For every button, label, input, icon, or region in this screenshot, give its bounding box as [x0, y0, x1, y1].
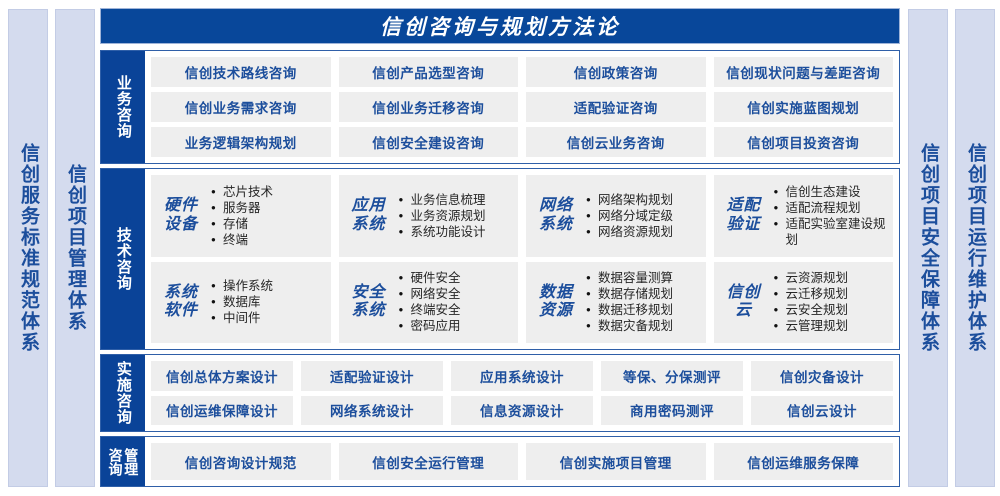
card-item: 终端 [211, 232, 325, 248]
band-business-consulting-label-text: 业务咨询 [115, 75, 131, 139]
list-item[interactable]: 信创云业务咨询 [526, 127, 706, 157]
card-item: 中间件 [211, 310, 325, 326]
band-implementation-consulting-label-text: 实施咨询 [115, 361, 131, 425]
pillar-left-project-management: 信创项目管理体系 [55, 9, 95, 487]
card-title: 系统 软件 [155, 284, 207, 321]
card-item: 系统功能设计 [399, 224, 513, 240]
card-title: 网络 系统 [530, 197, 582, 234]
pillar-left-service-standard-label: 信创服务标准规范体系 [18, 143, 38, 353]
list-item[interactable]: 等保、分保测评 [601, 361, 743, 391]
card-title-line: 系统 [343, 302, 395, 320]
band-technical-consulting-label-text: 技术咨询 [115, 227, 131, 291]
card-title: 数据 资源 [530, 284, 582, 321]
card-title-line: 验证 [718, 216, 770, 234]
pillar-left-project-management-label: 信创项目管理体系 [65, 164, 85, 332]
card-item: 云迁移规划 [774, 286, 888, 302]
card-items: 业务信息梳理 业务资源规划 系统功能设计 [399, 192, 513, 240]
card-item: 数据存储规划 [586, 286, 700, 302]
diagram-root: 信创服务标准规范体系 信创项目管理体系 信创项目安全保障体系 信创项目运行维护体… [0, 0, 1000, 496]
card-title: 安全 系统 [343, 284, 395, 321]
chip-row: 业务逻辑架构规划 信创安全建设咨询 信创云业务咨询 信创项目投资咨询 [151, 127, 893, 157]
card-system-software[interactable]: 系统 软件 操作系统 数据库 中间件 [151, 262, 331, 344]
chip-row: 信创技术路线咨询 信创产品选型咨询 信创政策咨询 信创现状问题与差距咨询 [151, 57, 893, 87]
list-item[interactable]: 网络系统设计 [301, 396, 443, 426]
card-row: 系统 软件 操作系统 数据库 中间件 安全 系统 硬件安全 [151, 262, 893, 344]
card-item: 数据迁移规划 [586, 302, 700, 318]
band-business-consulting-body: 信创技术路线咨询 信创产品选型咨询 信创政策咨询 信创现状问题与差距咨询 信创业… [145, 51, 899, 163]
band-implementation-consulting: 实施咨询 信创总体方案设计 适配验证设计 应用系统设计 等保、分保测评 信创灾备… [100, 354, 900, 432]
list-item[interactable]: 信创灾备设计 [751, 361, 893, 391]
card-network-system[interactable]: 网络 系统 网络架构规划 网络分域定级 网络资源规划 [526, 175, 706, 257]
card-title: 硬件 设备 [155, 197, 207, 234]
card-title-line: 应用 [343, 197, 395, 215]
card-item: 终端安全 [399, 302, 513, 318]
card-application-system[interactable]: 应用 系统 业务信息梳理 业务资源规划 系统功能设计 [339, 175, 519, 257]
card-item: 存储 [211, 216, 325, 232]
card-item: 云管理规划 [774, 318, 888, 334]
card-item: 操作系统 [211, 278, 325, 294]
list-item[interactable]: 信创业务需求咨询 [151, 92, 331, 122]
card-title-line: 资源 [530, 302, 582, 320]
card-adaptation-verification[interactable]: 适配 验证 信创生态建设 适配流程规划 适配实验室建设规划 [714, 175, 894, 257]
card-item: 数据库 [211, 294, 325, 310]
card-item: 云安全规划 [774, 302, 888, 318]
card-items: 操作系统 数据库 中间件 [211, 278, 325, 326]
card-title-line: 软件 [155, 302, 207, 320]
pillar-right-operations-maintenance-label: 信创项目运行维护体系 [965, 143, 985, 353]
card-item: 网络分域定级 [586, 208, 700, 224]
page-title: 信创咨询与规划方法论 [380, 11, 620, 41]
chip-row: 信创总体方案设计 适配验证设计 应用系统设计 等保、分保测评 信创灾备设计 [151, 361, 893, 391]
list-item[interactable]: 商用密码测评 [601, 396, 743, 426]
band-technical-consulting-label: 技术咨询 [101, 169, 145, 349]
list-item[interactable]: 信创产品选型咨询 [339, 57, 519, 87]
card-items: 硬件安全 网络安全 终端安全 密码应用 [399, 270, 513, 334]
card-item: 芯片技术 [211, 184, 325, 200]
card-title-line: 系统 [530, 216, 582, 234]
list-item[interactable]: 信创安全运行管理 [339, 443, 519, 480]
card-title-line: 云 [718, 302, 770, 320]
pillar-left-service-standard: 信创服务标准规范体系 [8, 9, 48, 487]
list-item[interactable]: 信创现状问题与差距咨询 [714, 57, 894, 87]
card-row: 硬件 设备 芯片技术 服务器 存储 终端 应用 系统 [151, 175, 893, 257]
card-title: 信创 云 [718, 284, 770, 321]
band-consulting-management-label-col1: 咨询 [108, 448, 123, 476]
card-item: 云资源规划 [774, 270, 888, 286]
list-item[interactable]: 信息资源设计 [451, 396, 593, 426]
list-item[interactable]: 适配验证设计 [301, 361, 443, 391]
list-item[interactable]: 信创咨询设计规范 [151, 443, 331, 480]
chip-row: 信创运维保障设计 网络系统设计 信息资源设计 商用密码测评 信创云设计 [151, 396, 893, 426]
card-title: 应用 系统 [343, 197, 395, 234]
card-items: 信创生态建设 适配流程规划 适配实验室建设规划 [774, 184, 888, 248]
list-item[interactable]: 应用系统设计 [451, 361, 593, 391]
card-data-resource[interactable]: 数据 资源 数据容量测算 数据存储规划 数据迁移规划 数据灾备规划 [526, 262, 706, 344]
band-consulting-management: 管理 咨询 信创咨询设计规范 信创安全运行管理 信创实施项目管理 信创运维服务保… [100, 436, 900, 487]
card-title-line: 系统 [343, 216, 395, 234]
list-item[interactable]: 信创实施项目管理 [526, 443, 706, 480]
band-business-consulting-label: 业务咨询 [101, 51, 145, 163]
chip-row: 信创业务需求咨询 信创业务迁移咨询 适配验证咨询 信创实施蓝图规划 [151, 92, 893, 122]
card-title-line: 系统 [155, 284, 207, 302]
card-item: 数据灾备规划 [586, 318, 700, 334]
card-title: 适配 验证 [718, 197, 770, 234]
card-items: 云资源规划 云迁移规划 云安全规划 云管理规划 [774, 270, 888, 334]
card-item: 数据容量测算 [586, 270, 700, 286]
band-consulting-management-label-col2: 管理 [124, 448, 139, 476]
card-item: 密码应用 [399, 318, 513, 334]
list-item[interactable]: 信创业务迁移咨询 [339, 92, 519, 122]
card-item: 业务信息梳理 [399, 192, 513, 208]
card-title-line: 适配 [718, 197, 770, 215]
card-item: 信创生态建设 [774, 184, 888, 200]
card-title-line: 安全 [343, 284, 395, 302]
band-technical-consulting-body: 硬件 设备 芯片技术 服务器 存储 终端 应用 系统 [145, 169, 899, 349]
card-items: 数据容量测算 数据存储规划 数据迁移规划 数据灾备规划 [586, 270, 700, 334]
diagram-title-bar: 信创咨询与规划方法论 [100, 8, 900, 44]
pillar-right-security-assurance: 信创项目安全保障体系 [908, 9, 948, 487]
list-item[interactable]: 业务逻辑架构规划 [151, 127, 331, 157]
card-hardware-device[interactable]: 硬件 设备 芯片技术 服务器 存储 终端 [151, 175, 331, 257]
band-implementation-consulting-body: 信创总体方案设计 适配验证设计 应用系统设计 等保、分保测评 信创灾备设计 信创… [145, 355, 899, 431]
pillar-right-security-assurance-label: 信创项目安全保障体系 [918, 143, 938, 353]
list-item[interactable]: 信创总体方案设计 [151, 361, 293, 391]
list-item[interactable]: 适配验证咨询 [526, 92, 706, 122]
band-consulting-management-body: 信创咨询设计规范 信创安全运行管理 信创实施项目管理 信创运维服务保障 [145, 437, 899, 486]
list-item[interactable]: 信创技术路线咨询 [151, 57, 331, 87]
list-item[interactable]: 信创运维服务保障 [714, 443, 894, 480]
card-item: 硬件安全 [399, 270, 513, 286]
band-implementation-consulting-label: 实施咨询 [101, 355, 145, 431]
card-item: 适配实验室建设规划 [774, 216, 888, 248]
card-item: 业务资源规划 [399, 208, 513, 224]
list-item[interactable]: 信创云设计 [751, 396, 893, 426]
card-title-line: 数据 [530, 284, 582, 302]
pillar-right-operations-maintenance: 信创项目运行维护体系 [955, 9, 995, 487]
list-item[interactable]: 信创实施蓝图规划 [714, 92, 894, 122]
card-security-system[interactable]: 安全 系统 硬件安全 网络安全 终端安全 密码应用 [339, 262, 519, 344]
list-item[interactable]: 信创运维保障设计 [151, 396, 293, 426]
list-item[interactable]: 信创项目投资咨询 [714, 127, 894, 157]
band-technical-consulting: 技术咨询 硬件 设备 芯片技术 服务器 存储 终端 [100, 168, 900, 350]
card-item: 网络资源规划 [586, 224, 700, 240]
card-items: 网络架构规划 网络分域定级 网络资源规划 [586, 192, 700, 240]
card-xinchuang-cloud[interactable]: 信创 云 云资源规划 云迁移规划 云安全规划 云管理规划 [714, 262, 894, 344]
band-business-consulting: 业务咨询 信创技术路线咨询 信创产品选型咨询 信创政策咨询 信创现状问题与差距咨… [100, 50, 900, 164]
card-item: 适配流程规划 [774, 200, 888, 216]
card-item: 网络架构规划 [586, 192, 700, 208]
card-item: 网络安全 [399, 286, 513, 302]
card-items: 芯片技术 服务器 存储 终端 [211, 184, 325, 248]
card-title-line: 信创 [718, 284, 770, 302]
band-consulting-management-label: 管理 咨询 [101, 437, 145, 486]
list-item[interactable]: 信创安全建设咨询 [339, 127, 519, 157]
list-item[interactable]: 信创政策咨询 [526, 57, 706, 87]
card-item: 服务器 [211, 200, 325, 216]
card-title-line: 硬件 [155, 197, 207, 215]
chip-row: 信创咨询设计规范 信创安全运行管理 信创实施项目管理 信创运维服务保障 [151, 443, 893, 480]
card-title-line: 设备 [155, 216, 207, 234]
card-title-line: 网络 [530, 197, 582, 215]
